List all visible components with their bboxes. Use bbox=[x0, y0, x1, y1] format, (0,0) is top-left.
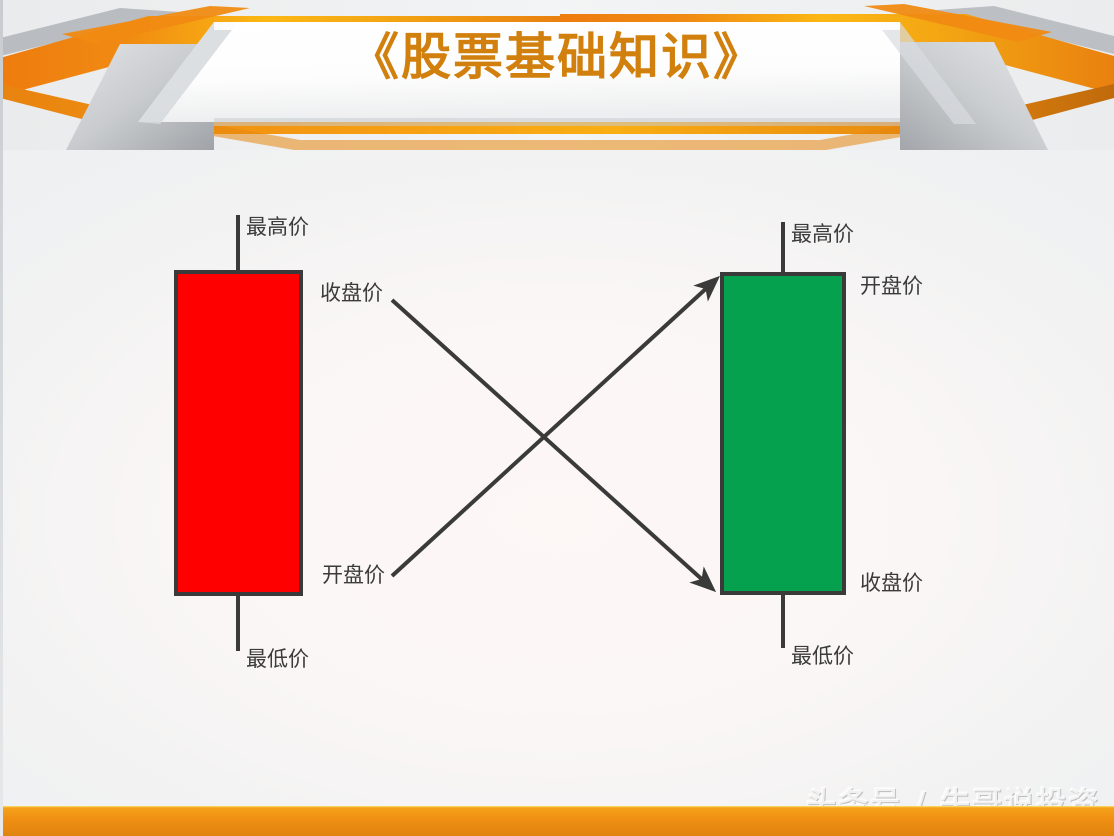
page-title: 《股票基础知识》 bbox=[0, 26, 1114, 88]
label-right-high: 最高价 bbox=[791, 218, 854, 248]
label-left-high: 最高价 bbox=[246, 211, 309, 241]
candle-bearish-green bbox=[722, 222, 844, 648]
candle-left-body bbox=[176, 272, 301, 594]
slide-left-edge bbox=[0, 0, 3, 836]
label-left-open: 开盘价 bbox=[322, 559, 385, 589]
open-to-close-arrow bbox=[392, 300, 706, 583]
label-right-close: 收盘价 bbox=[860, 567, 923, 597]
close-to-open-arrow bbox=[392, 285, 710, 576]
banner-plate-shadow bbox=[214, 118, 900, 126]
candle-bullish-red bbox=[176, 215, 301, 651]
label-left-low: 最低价 bbox=[246, 643, 309, 673]
label-right-low: 最低价 bbox=[791, 640, 854, 670]
label-right-open: 开盘价 bbox=[860, 270, 923, 300]
candle-right-body bbox=[722, 274, 844, 593]
footer-bar bbox=[0, 806, 1114, 836]
header-banner: 《股票基础知识》 bbox=[0, 0, 1114, 146]
slide-canvas: 《股票基础知识》 最高价 收盘价 开盘价 最低价 最高价 开盘价 收盘价 最低价 bbox=[0, 0, 1114, 836]
label-left-close: 收盘价 bbox=[320, 277, 383, 307]
